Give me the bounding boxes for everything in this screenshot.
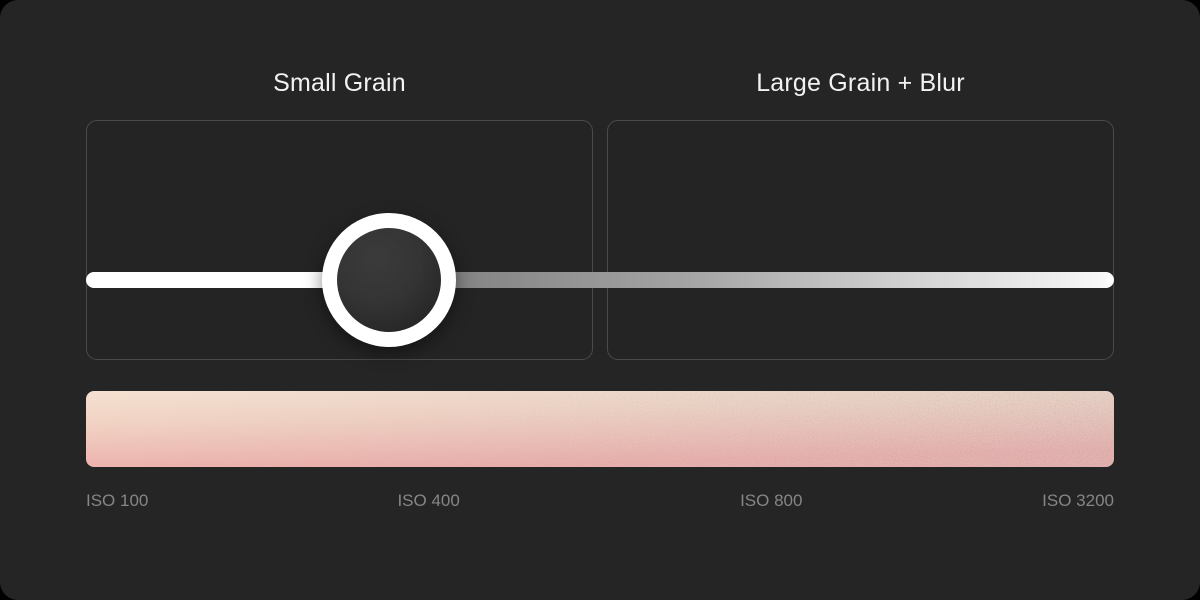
slider-thumb[interactable] xyxy=(322,213,456,347)
preview-comparison-row: Small Grain Large Grain + Blur xyxy=(86,68,1114,360)
iso-label-100: ISO 100 xyxy=(86,489,148,513)
slider-thumb-inner xyxy=(337,228,441,332)
iso-label-400: ISO 400 xyxy=(397,489,459,513)
preview-column-large-grain-blur: Large Grain + Blur xyxy=(607,68,1114,360)
iso-scale: ISO 100 ISO 400 ISO 800 ISO 3200 xyxy=(86,489,1114,513)
iso-label-800: ISO 800 xyxy=(740,489,802,513)
iso-label-3200: ISO 3200 xyxy=(1042,489,1114,513)
grain-amount-slider[interactable] xyxy=(86,272,1114,288)
preview-title-small-grain: Small Grain xyxy=(273,68,406,98)
grain-strip-canvas xyxy=(86,391,1114,467)
grain-preview-strip xyxy=(86,391,1114,467)
preview-title-large-grain-blur: Large Grain + Blur xyxy=(756,68,965,98)
preview-box-large-grain-blur[interactable] xyxy=(607,120,1114,360)
grain-simulator-panel: Small Grain Large Grain + Blur xyxy=(0,0,1200,600)
